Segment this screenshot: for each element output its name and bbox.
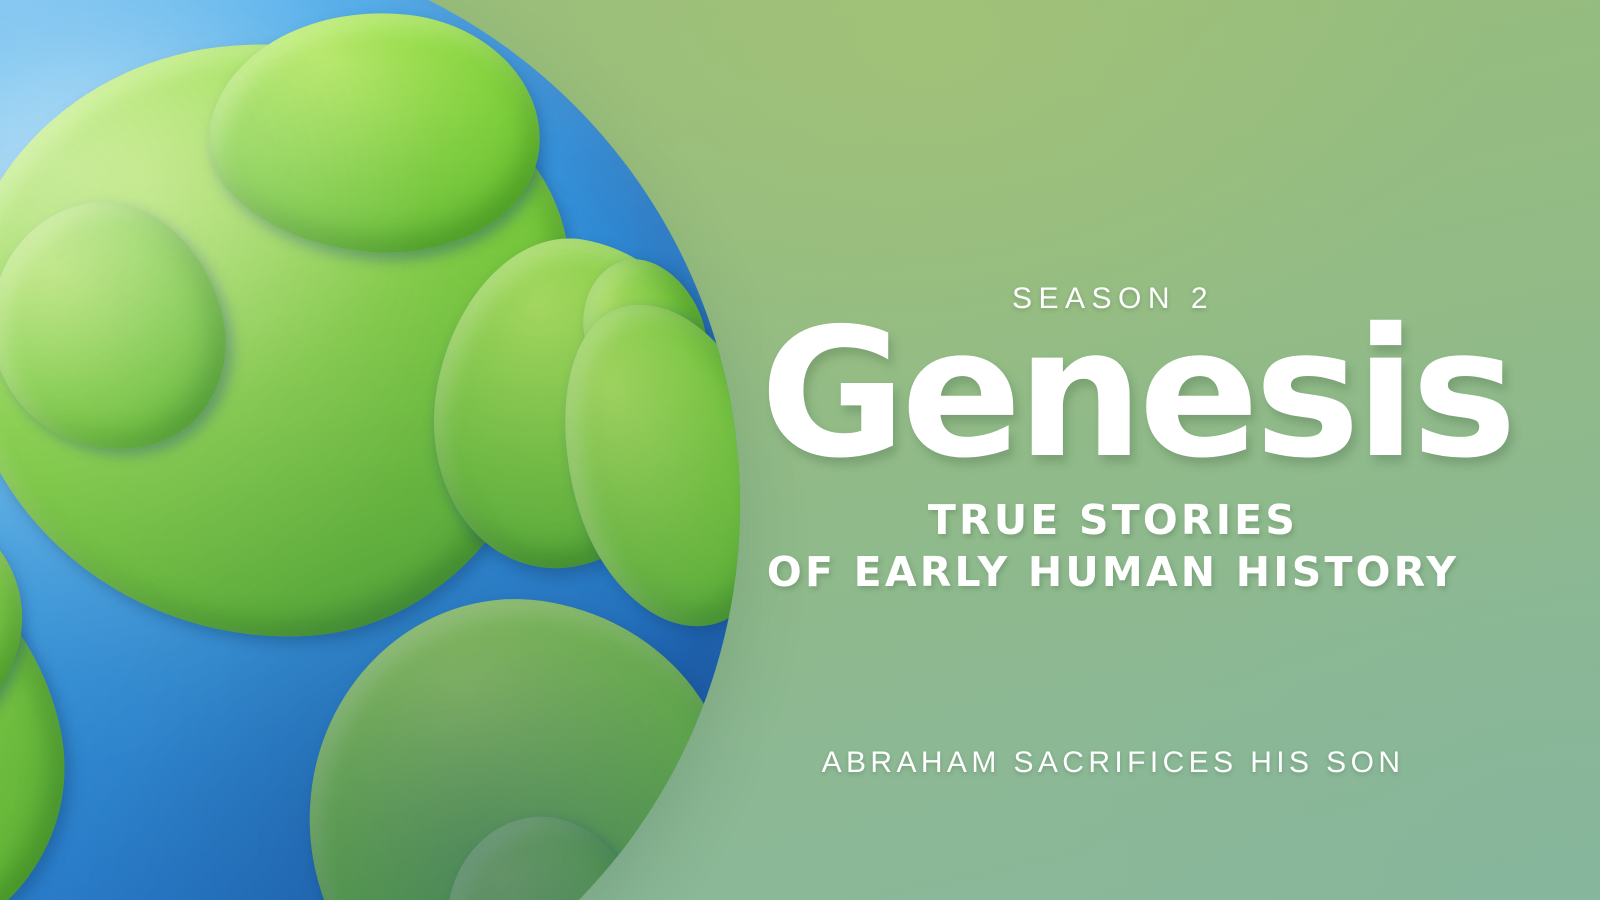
subtitle-line-1: TRUE STORIES <box>760 494 1466 546</box>
episode-title: ABRAHAM SACRIFICES HIS SON <box>760 748 1466 778</box>
subtitle: TRUE STORIES OF EARLY HUMAN HISTORY <box>760 494 1466 599</box>
title-slide: SEASON 2 Genesis TRUE STORIES OF EARLY H… <box>0 0 1600 900</box>
title-text-block: SEASON 2 Genesis TRUE STORIES OF EARLY H… <box>760 0 1466 900</box>
page-title: Genesis <box>760 300 1466 489</box>
subtitle-line-2: OF EARLY HUMAN HISTORY <box>760 546 1466 598</box>
globe-sphere <box>0 0 740 900</box>
earth-globe-illustration <box>0 0 740 900</box>
